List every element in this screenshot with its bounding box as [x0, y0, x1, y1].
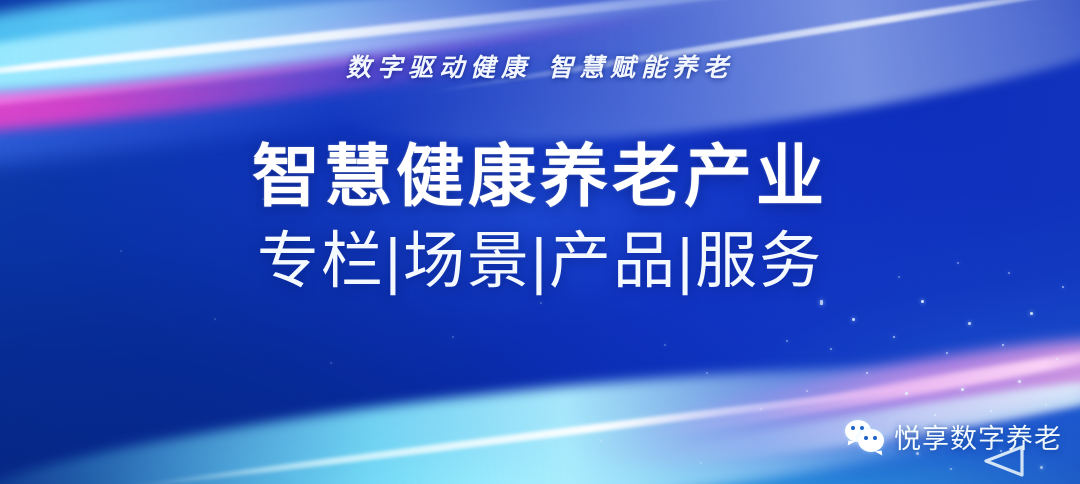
- promo-banner: 数字驱动健康智慧赋能养老 智慧健康养老产业 专栏|场景|产品|服务 悦享数字养老: [0, 0, 1080, 484]
- wechat-account-badge[interactable]: 悦享数字养老: [845, 417, 1062, 456]
- banner-headline: 智慧健康养老产业: [0, 141, 1080, 213]
- wechat-account-name: 悦享数字养老: [894, 417, 1062, 456]
- wechat-bubble-front: [858, 429, 884, 452]
- wechat-eye-back-left: [851, 426, 855, 430]
- tagline-right: 智慧赋能养老: [548, 54, 734, 82]
- wechat-eye-front-right: [873, 436, 877, 440]
- banner-subline: 专栏|场景|产品|服务: [0, 228, 1080, 296]
- wechat-eye-front-left: [864, 436, 868, 440]
- tagline-left: 数字驱动健康: [346, 54, 532, 82]
- bottom-cyan-swoosh: [0, 333, 1080, 484]
- wechat-logo-icon: [845, 420, 885, 454]
- banner-tagline: 数字驱动健康智慧赋能养老: [0, 48, 1080, 84]
- wechat-eye-back-right: [860, 426, 864, 430]
- bottom-glow-blob: [330, 440, 690, 484]
